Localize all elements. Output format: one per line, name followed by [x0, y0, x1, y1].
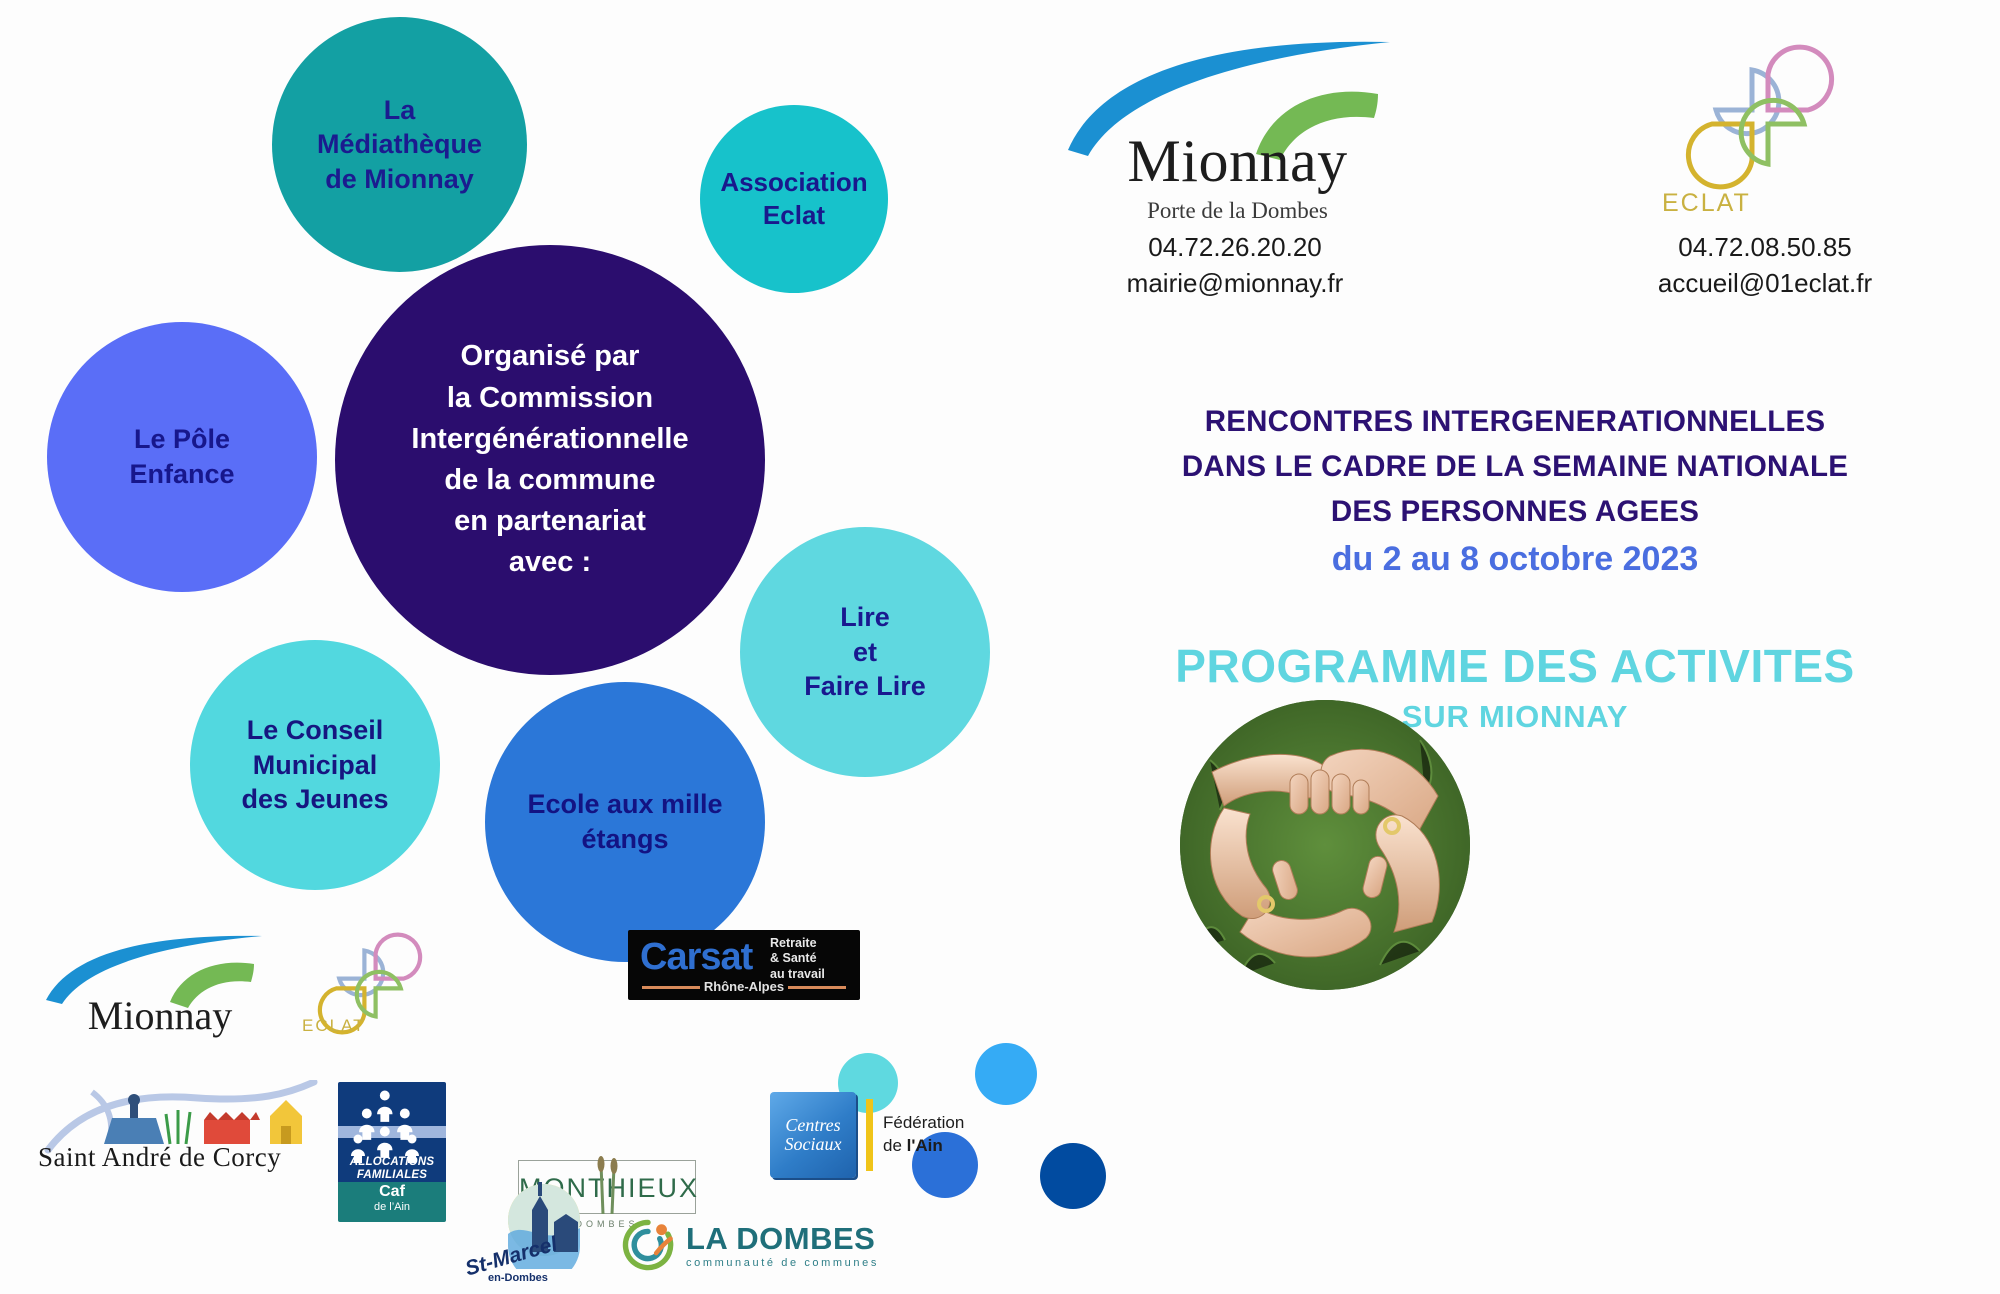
carsat-region: Rhône-Alpes [628, 979, 860, 994]
title-line-1: RENCONTRES INTERGENERATIONNELLES [1030, 400, 2000, 445]
st-marcel-sub: en-Dombes [488, 1272, 548, 1284]
partner-carsat-logo: Carsat Retraite & Santé au travail Rhône… [628, 930, 860, 1000]
partner-mionnay-logo: Mionnay [40, 930, 280, 1050]
federation-line-2-prefix: de [883, 1136, 907, 1155]
bubble-lire-label: Lire et Faire Lire [804, 600, 926, 704]
eclat-logo-label: ECLAT [1662, 189, 1751, 218]
programme-subheading: SUR MIONNAY [1030, 699, 2000, 735]
partner-eclat-logo: ECLAT [300, 924, 440, 1049]
right-panel: Mionnay Porte de la Dombes 04.72.26.20.2… [1030, 0, 2000, 1294]
bubble-pole-enfance: Le Pôle Enfance [47, 322, 317, 592]
eclat-email[interactable]: accueil@01eclat.fr [1595, 268, 1935, 299]
centres-sociaux-mark: Centres Sociaux [770, 1092, 856, 1178]
title-line-3: DES PERSONNES AGEES [1030, 490, 2000, 535]
carsat-line-1: Retraite [770, 936, 852, 951]
eclat-flower-icon [1660, 32, 1860, 192]
eclat-phone: 04.72.08.50.85 [1595, 232, 1935, 263]
centres-sociaux-line-1: Centres [785, 1116, 840, 1135]
caf-region: de l’Ain [338, 1201, 446, 1213]
partner-centres-sociaux-logo: Centres Sociaux Fédération de l'Ain [770, 1080, 1000, 1190]
hands-joined-photo [1180, 700, 1470, 990]
bubble-pole-enfance-label: Le Pôle Enfance [129, 422, 234, 491]
eclat-logo: ECLAT [1660, 32, 1875, 222]
hands-photo-illustration [1180, 700, 1470, 990]
bubble-mediatheque: La Médiathèque de Mionnay [272, 17, 527, 272]
mairie-email[interactable]: mairie@mionnay.fr [1065, 268, 1405, 299]
decor-dot-navy [1040, 1143, 1106, 1209]
caf-line-1: ALLOCATIONS [338, 1156, 446, 1168]
bubble-organise-par: Organisé par la Commission Intergénérati… [335, 245, 765, 675]
bubble-association-eclat-label: Association Eclat [720, 166, 867, 233]
partner-caf-logo: ALLOCATIONS FAMILIALES Caf de l’Ain [338, 1082, 446, 1222]
partner-eclat-label: ECLAT [302, 1016, 366, 1036]
federation-line-2-bold: l'Ain [907, 1136, 943, 1155]
mionnay-logo-word: Mionnay [1060, 127, 1415, 196]
event-dates: du 2 au 8 octobre 2023 [1030, 540, 2000, 579]
mionnay-logo: Mionnay Porte de la Dombes [1060, 32, 1415, 232]
carsat-word: Carsat [640, 936, 752, 979]
mairie-phone: 04.72.26.20.20 [1065, 232, 1405, 263]
la-dombes-sub: communauté de communes [686, 1257, 879, 1269]
caf-line-2: FAMILIALES [338, 1169, 446, 1181]
caf-family-icon: ALLOCATIONS FAMILIALES [338, 1082, 446, 1182]
centres-sociaux-line-2: Sociaux [785, 1135, 842, 1154]
bubble-mediatheque-label: La Médiathèque de Mionnay [317, 93, 482, 197]
header-logos: Mionnay Porte de la Dombes 04.72.26.20.2… [1030, 20, 2000, 295]
federation-divider [866, 1099, 873, 1171]
la-dombes-circle-icon [620, 1217, 676, 1273]
federation-line-1: Fédération [883, 1112, 964, 1135]
partner-st-marcel-logo: St-Marcel en-Dombes [470, 1180, 600, 1290]
mionnay-logo-subtitle: Porte de la Dombes [1060, 198, 1415, 224]
caf-word: Caf [338, 1182, 446, 1201]
poster-page: La Médiathèque de Mionnay Association Ec… [0, 0, 2000, 1294]
title-block: RENCONTRES INTERGENERATIONNELLES DANS LE… [1030, 400, 2000, 735]
bubble-conseil-label: Le Conseil Municipal des Jeunes [241, 713, 388, 817]
bubble-ecole-aux-mille-etangs: Ecole aux mille étangs [485, 682, 765, 962]
programme-heading: PROGRAMME DES ACTIVITES [1030, 639, 2000, 693]
bubble-conseil-municipal-des-jeunes: Le Conseil Municipal des Jeunes [190, 640, 440, 890]
bubble-association-eclat: Association Eclat [700, 105, 888, 293]
partner-logos: Mionnay ECLAT [0, 930, 1000, 1294]
partner-saint-andre-word: Saint André de Corcy [38, 1142, 281, 1173]
partner-la-dombes-logo: LA DOMBES communauté de communes [620, 1210, 950, 1280]
bubble-lire-et-faire-lire: Lire et Faire Lire [740, 527, 990, 777]
la-dombes-word: LA DOMBES [686, 1221, 879, 1257]
bubble-ecole-label: Ecole aux mille étangs [527, 787, 722, 856]
title-line-2: DANS LE CADRE DE LA SEMAINE NATIONALE [1030, 445, 2000, 490]
bubble-organise-par-label: Organisé par la Commission Intergénérati… [411, 336, 688, 583]
partner-saint-andre-de-corcy-logo: Saint André de Corcy [38, 1080, 338, 1190]
carsat-line-2: & Santé [770, 951, 852, 966]
partner-mionnay-word: Mionnay [40, 992, 280, 1039]
